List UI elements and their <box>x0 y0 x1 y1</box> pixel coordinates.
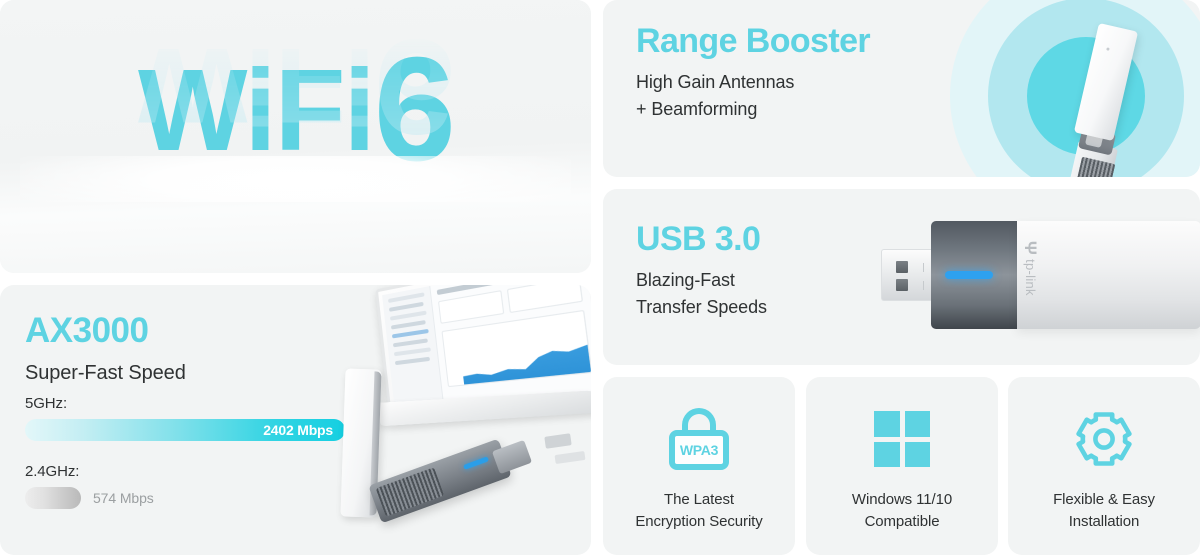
panel-usb-3: USB 3.0 Blazing-Fast Transfer Speeds Ψ t… <box>603 189 1200 365</box>
gear-svg <box>1072 407 1136 471</box>
usb-line-2: Transfer Speeds <box>636 294 767 321</box>
feature-card-encryption-label: The Latest Encryption Security <box>603 489 795 533</box>
ax3000-subtitle: Super-Fast Speed <box>25 362 370 385</box>
laptop-ui-chart-area <box>460 338 591 385</box>
laptop-ui-stat-card <box>507 285 583 313</box>
windows-panes <box>874 411 930 467</box>
speed-bar-24ghz <box>25 487 81 509</box>
laptop-port <box>544 433 571 449</box>
range-booster-subtitle: High Gain Antennas + Beamforming <box>636 69 870 123</box>
band-label-5ghz: 5GHz: <box>25 395 355 412</box>
panel-range-booster: Range Booster High Gain Antennas + Beamf… <box>603 0 1200 177</box>
tp-link-glyph: Ψ <box>1022 241 1039 255</box>
feature-card-installation-label: Flexible & Easy Installation <box>1008 489 1200 533</box>
feature-label-line-2: Compatible <box>806 511 998 533</box>
wpa3-badge-text: WPA3 <box>680 442 718 458</box>
usb-adapter-dark-body <box>931 221 1019 329</box>
speed-band-24ghz: 2.4GHz: 574 Mbps <box>25 463 355 509</box>
adapter-grill <box>376 467 445 516</box>
ax3000-text-block: AX3000 Super-Fast Speed <box>25 313 370 385</box>
lock-body: WPA3 <box>669 430 729 470</box>
feature-label-line-1: Windows 11/10 <box>806 489 998 511</box>
tp-link-logo: Ψ tp-link <box>1022 241 1039 296</box>
adapter-led <box>463 456 489 470</box>
windows-pane <box>874 411 900 437</box>
feature-card-encryption: WPA3 The Latest Encryption Security <box>603 377 795 555</box>
range-adapter-antenna-flap <box>1074 23 1138 141</box>
band-label-24ghz: 2.4GHz: <box>25 463 355 480</box>
wifi6-headline-text: WiFi <box>138 45 374 175</box>
gear-icon <box>1066 401 1142 477</box>
laptop-ui-chart <box>441 310 591 387</box>
laptop-ui-stat-card <box>438 290 505 324</box>
windows-pane <box>874 442 900 468</box>
adapter-body <box>368 439 511 524</box>
panel-wifi6: WiFi6 WiFi6 <box>0 0 591 273</box>
feature-label-line-1: Flexible & Easy <box>1008 489 1200 511</box>
panel-ax3000: AX3000 Super-Fast Speed 5GHz: 2402 Mbps … <box>0 285 591 555</box>
range-booster-line-1: High Gain Antennas <box>636 69 870 96</box>
ax3000-title: AX3000 <box>25 313 370 350</box>
range-adapter-illustration <box>1044 18 1174 177</box>
range-booster-title: Range Booster <box>636 23 870 60</box>
speed-bar-5ghz: 2402 Mbps <box>25 419 345 441</box>
laptop-port-secondary <box>555 451 586 464</box>
feature-label-line-1: The Latest <box>603 489 795 511</box>
usb-line-1: Blazing-Fast <box>636 267 767 294</box>
usb-led-indicator <box>945 271 993 279</box>
usb-text-block: USB 3.0 Blazing-Fast Transfer Speeds <box>636 221 767 321</box>
range-booster-line-2: + Beamforming <box>636 96 870 123</box>
windows-logo-icon <box>864 401 940 477</box>
windows-pane <box>905 442 931 468</box>
range-booster-text-block: Range Booster High Gain Antennas + Beamf… <box>636 23 870 123</box>
band-bar-row-5ghz: 2402 Mbps <box>25 419 355 441</box>
tp-link-wordmark: tp-link <box>1023 259 1038 296</box>
wifi6-headline-numeral: 6 <box>374 27 453 192</box>
lock-wpa3-icon: WPA3 <box>661 401 737 477</box>
wifi6-headline: WiFi6 <box>86 36 506 184</box>
feature-card-windows: Windows 11/10 Compatible <box>806 377 998 555</box>
usb-adapter-illustration: Ψ tp-link <box>881 221 1200 331</box>
feature-label-line-2: Encryption Security <box>603 511 795 533</box>
band-bar-row-24ghz: 574 Mbps <box>25 487 355 509</box>
laptop-dashboard-ui <box>382 285 591 408</box>
usb-title: USB 3.0 <box>636 221 767 258</box>
feature-card-installation: Flexible & Easy Installation <box>1008 377 1200 555</box>
wifi6-headline-wrap: WiFi6 WiFi6 <box>86 36 506 184</box>
feature-grid-board: WiFi6 WiFi6 AX3000 Super-Fast Speed 5GHz… <box>0 0 1200 555</box>
feature-card-windows-label: Windows 11/10 Compatible <box>806 489 998 533</box>
wifi6-stage: WiFi6 WiFi6 <box>0 0 591 273</box>
laptop-adapter-illustration <box>327 285 591 555</box>
laptop-ui-main <box>430 285 591 403</box>
speed-value-24ghz: 574 Mbps <box>93 490 154 506</box>
usb-adapter-light-body: Ψ tp-link <box>1017 221 1200 329</box>
usb-connector-plug <box>881 249 933 301</box>
lock-shape: WPA3 <box>669 408 729 470</box>
feature-label-line-2: Installation <box>1008 511 1200 533</box>
windows-pane <box>905 411 931 437</box>
usb-subtitle: Blazing-Fast Transfer Speeds <box>636 267 767 322</box>
speed-band-5ghz: 5GHz: 2402 Mbps <box>25 395 355 441</box>
